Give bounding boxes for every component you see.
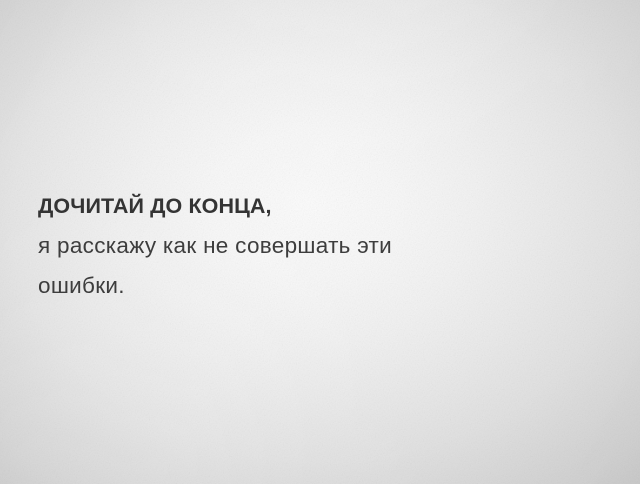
quote-line-body-1: я расскажу как не совершать эти — [38, 226, 598, 266]
quote-card: ДОЧИТАЙ ДО КОНЦА, я расскажу как не сове… — [0, 0, 640, 484]
quote-line-headline: ДОЧИТАЙ ДО КОНЦА, — [38, 186, 598, 226]
quote-line-body-2: ошибки. — [38, 266, 598, 306]
quote-text-block: ДОЧИТАЙ ДО КОНЦА, я расскажу как не сове… — [38, 186, 598, 306]
